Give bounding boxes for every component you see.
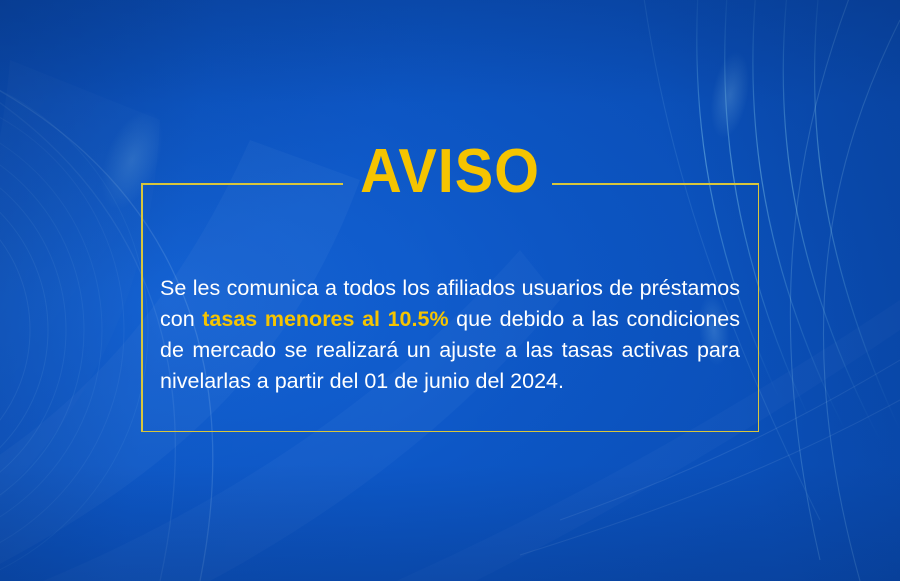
frame-border-bottom [141, 431, 759, 433]
notice-banner: AVISO Se les comunica a todos los afilia… [0, 0, 900, 581]
notice-body: Se les comunica a todos los afiliados us… [160, 273, 740, 397]
frame-border-right [758, 183, 760, 432]
notice-frame: AVISO Se les comunica a todos los afilia… [141, 183, 759, 432]
frame-border-left [141, 183, 143, 432]
notice-body-highlight: tasas menores al 10.5% [202, 307, 448, 331]
notice-title: AVISO [163, 141, 738, 203]
